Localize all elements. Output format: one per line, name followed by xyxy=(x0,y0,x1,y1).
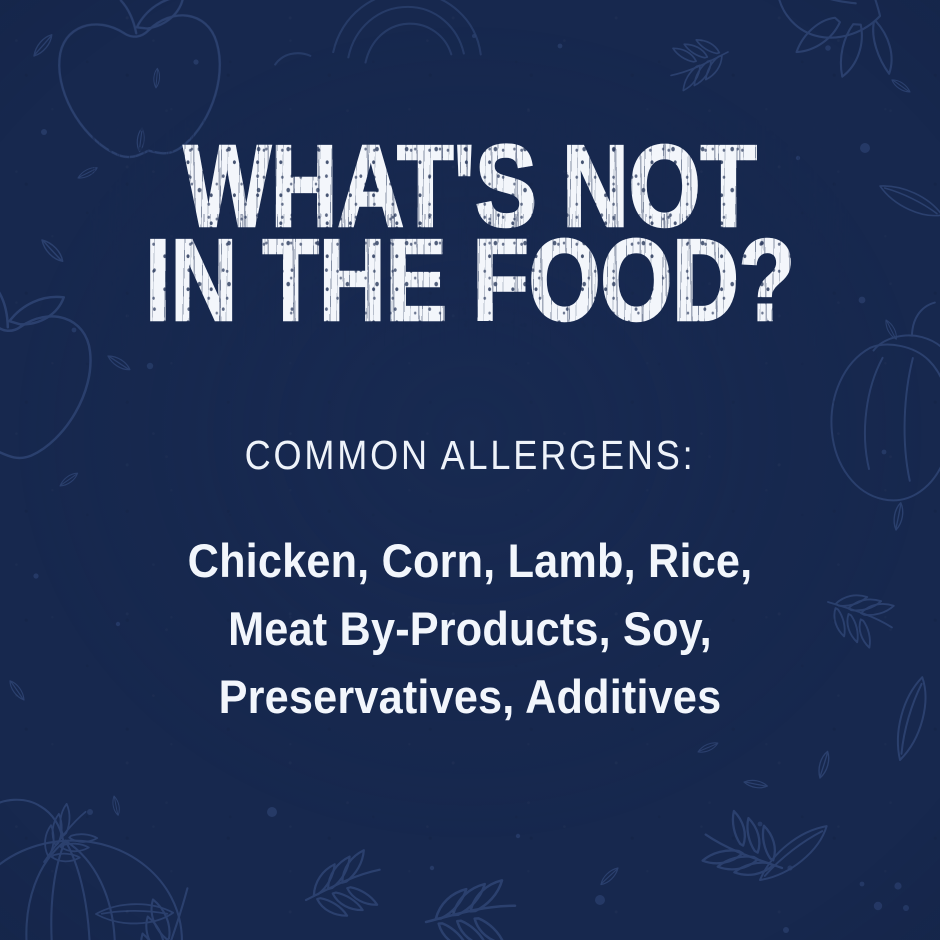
allergen-list-line-3: Preservatives, Additives xyxy=(38,663,903,731)
allergen-list-line-1: Chicken, Corn, Lamb, Rice, xyxy=(38,527,903,595)
poster-content: WHAT'S NOT IN THE FOOD? COMMON ALLERGENS… xyxy=(0,0,940,940)
subheading-common-allergens: COMMON ALLERGENS: xyxy=(56,432,883,479)
headline-line-2-text: IN THE FOOD? xyxy=(145,215,795,345)
allergen-list-line-2: Meat By-Products, Soy, xyxy=(38,595,903,663)
poster-canvas: WHAT'S NOT IN THE FOOD? COMMON ALLERGENS… xyxy=(0,0,940,940)
headline-line-2: IN THE FOOD? xyxy=(94,222,846,338)
allergen-list: Chicken, Corn, Lamb, Rice, Meat By-Produ… xyxy=(38,527,903,731)
